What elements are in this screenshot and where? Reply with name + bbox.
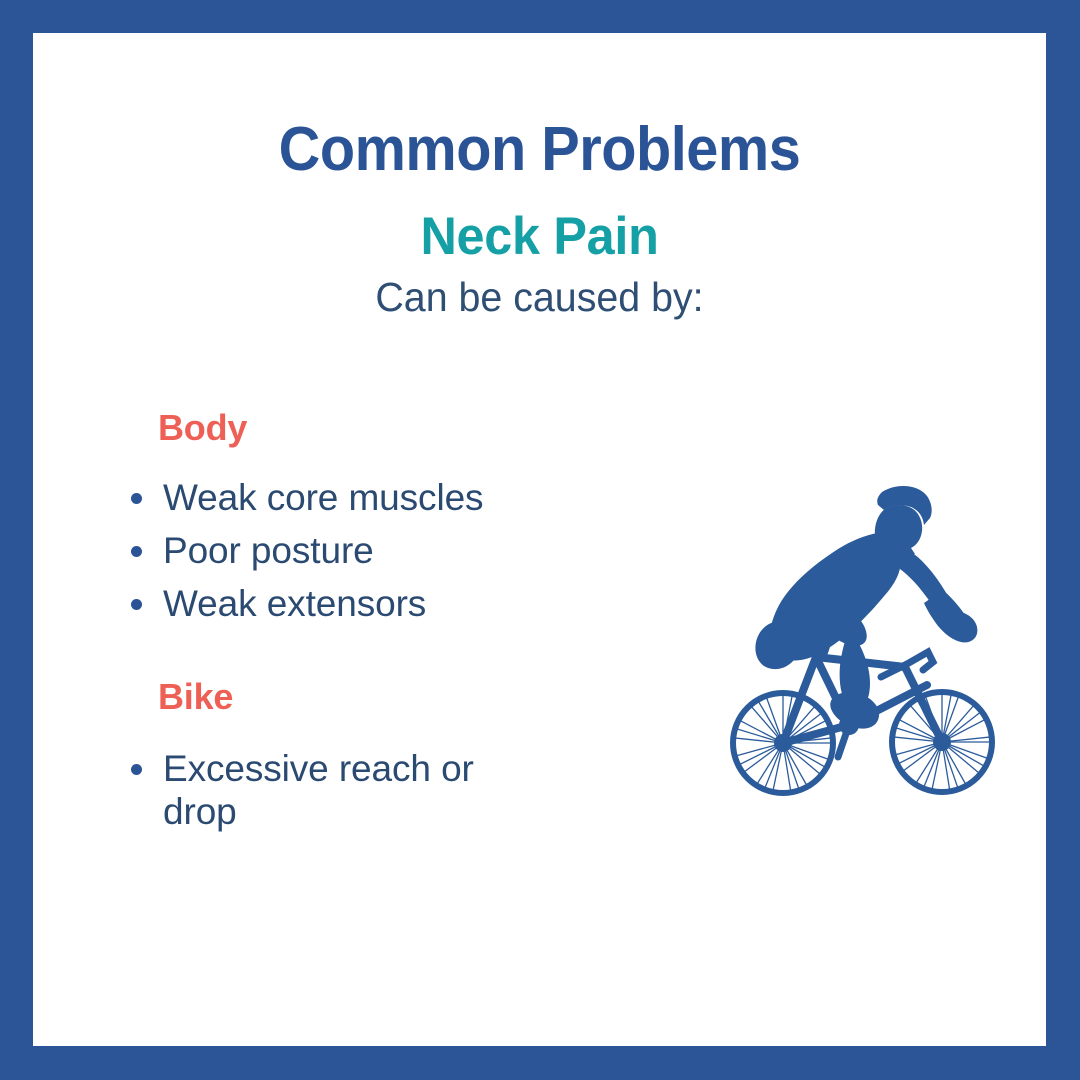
section-body: Body Weak core muscles Poor posture Weak… [125,408,595,625]
bullet-list-bike: Excessive reach or drop [125,747,595,834]
cyclist-illustration [675,471,1005,801]
list-item-label: Excessive reach or drop [163,748,474,832]
list-item-label: Poor posture [163,530,374,571]
cyclist-on-road-bike-icon [675,471,1005,801]
bullet-dot-icon [131,599,142,610]
page-subtitle: Neck Pain [58,208,1020,266]
poster-card: Common Problems Neck Pain Can be caused … [33,33,1046,1046]
list-item-label: Weak extensors [163,583,426,624]
bullet-list-body: Weak core muscles Poor posture Weak exte… [125,476,595,626]
list-item: Excessive reach or drop [125,747,533,834]
bullet-dot-icon [131,493,142,504]
page-caption: Can be caused by: [53,273,1025,322]
content-column: Body Weak core muscles Poor posture Weak… [125,408,595,844]
list-item: Weak extensors [125,582,595,625]
list-item-label: Weak core muscles [163,477,483,518]
list-item: Weak core muscles [125,476,595,519]
poster-frame: Common Problems Neck Pain Can be caused … [0,0,1080,1080]
bullet-dot-icon [131,546,142,557]
bullet-dot-icon [131,764,142,775]
section-bike: Bike Excessive reach or drop [125,677,595,833]
section-heading-bike: Bike [158,677,595,717]
list-item: Poor posture [125,529,595,572]
page-title: Common Problems [68,117,1010,182]
section-heading-body: Body [158,408,595,448]
